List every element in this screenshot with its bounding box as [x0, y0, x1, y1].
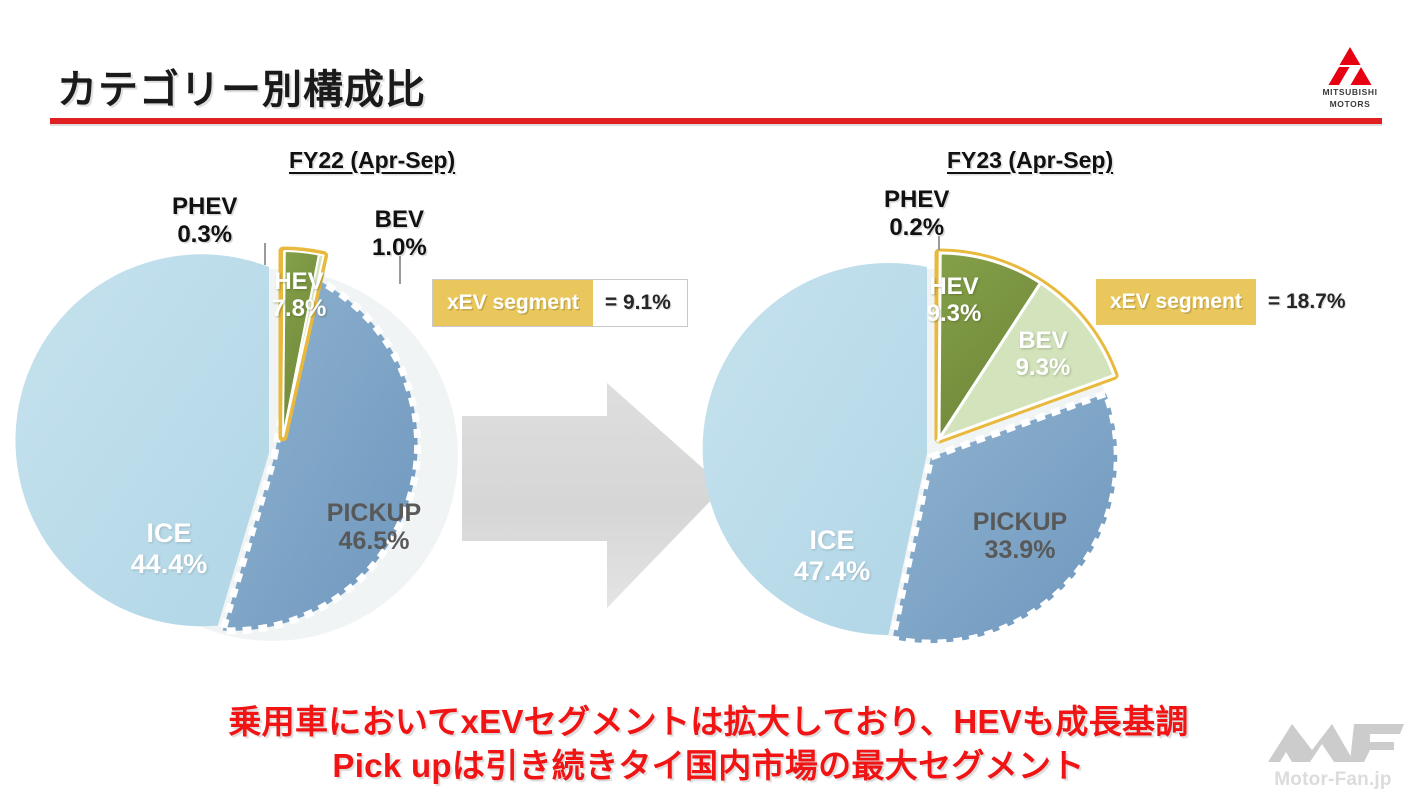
- pie-slice-ice: [15, 254, 269, 626]
- watermark-text: Motor-Fan.jp: [1258, 769, 1408, 791]
- page-title: カテゴリー別構成比: [57, 57, 426, 115]
- pie-chart-fy22-svg: [64, 243, 484, 663]
- leader-line-phev-fy22: [264, 243, 266, 265]
- caption-line-2: Pick upは引き続きタイ国内市場の最大セグメント: [0, 744, 1417, 788]
- mitsubishi-three-diamonds-icon: [1323, 45, 1377, 85]
- xev-badge-label-fy23: xEV segment: [1096, 279, 1256, 325]
- caption-line-1: 乗用車においてxEVセグメントは拡大しており、HEVも成長基調: [0, 700, 1417, 744]
- brand-name-line1: MITSUBISHI: [1305, 87, 1395, 97]
- callout-phev-fy23: PHEV 0.2%: [884, 186, 949, 241]
- pie-chart-fy23-svg: [722, 243, 1142, 663]
- xev-segment-badge-fy23: xEV segment = 18.7%: [1096, 279, 1362, 325]
- leader-line-bev-fy22: [399, 256, 401, 284]
- summary-caption: 乗用車においてxEVセグメントは拡大しており、HEVも成長基調 Pick upは…: [0, 700, 1417, 787]
- brand-name-line2: MOTORS: [1305, 99, 1395, 109]
- callout-bev-fy22: BEV 1.0%: [372, 206, 427, 261]
- motor-fan-watermark: Motor-Fan.jp: [1258, 716, 1408, 792]
- pie-slice-ice: [703, 263, 927, 635]
- chart-heading-fy22: FY22 (Apr-Sep): [289, 147, 455, 174]
- xev-badge-value-fy22: = 9.1%: [593, 280, 687, 326]
- title-divider: [50, 118, 1382, 124]
- callout-phev-fy22: PHEV 0.3%: [172, 193, 237, 248]
- xev-badge-label-fy22: xEV segment: [433, 280, 593, 326]
- xev-badge-value-fy23: = 18.7%: [1256, 279, 1362, 325]
- xev-segment-badge-fy22: xEV segment = 9.1%: [432, 279, 688, 327]
- pie-chart-fy22: ICE 44.4% PICKUP 46.5% HEV 7.8%: [64, 243, 484, 663]
- mitsubishi-logo: MITSUBISHI MOTORS: [1305, 45, 1395, 109]
- leader-line-phev-fy23: [938, 236, 940, 250]
- pie-chart-fy23: ICE 47.4% PICKUP 33.9% HEV 9.3% BEV 9.3%: [722, 243, 1142, 663]
- chart-heading-fy23: FY23 (Apr-Sep): [947, 147, 1113, 174]
- motor-fan-logo-icon: [1258, 716, 1408, 768]
- transition-arrow-icon: [462, 383, 724, 623]
